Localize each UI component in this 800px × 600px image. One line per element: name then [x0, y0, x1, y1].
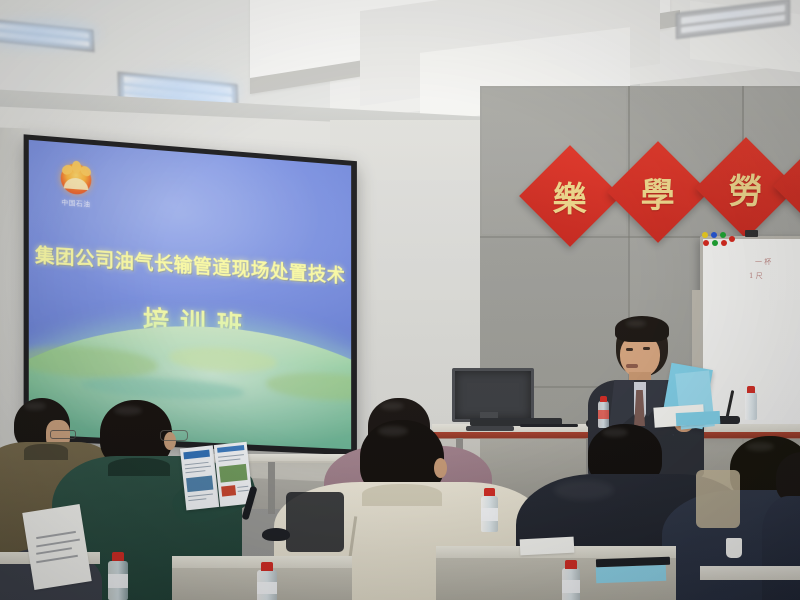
handout-papers[interactable] — [520, 537, 575, 556]
handout-papers[interactable] — [22, 504, 91, 590]
suit-shoulder-highlight — [554, 480, 614, 500]
presenter-eye — [643, 347, 650, 350]
whiteboard-magnets[interactable] — [702, 232, 738, 248]
attendee-collar — [108, 458, 170, 476]
chair-back — [286, 492, 344, 552]
whiteboard-note-line: 一 杯 — [755, 257, 771, 267]
eyeglasses-icon — [160, 430, 188, 441]
petrochina-logo: 中国石油 — [56, 162, 97, 209]
banner-xue: 學 — [622, 156, 694, 228]
attendee-torso — [762, 496, 800, 600]
photo-scene: 中国石油 集团公司油气长输管道现场处置技术 培训班 樂 學 勞 一 杯 1 尺 — [0, 0, 800, 600]
banner-character: 勞 — [729, 164, 763, 213]
attendee-collar — [24, 444, 68, 460]
water-bottle[interactable] — [562, 560, 580, 600]
paper-cup[interactable] — [726, 538, 742, 558]
banner-character: 樂 — [553, 172, 587, 221]
logo-sun-icon — [61, 163, 92, 196]
water-bottle[interactable] — [481, 488, 498, 532]
handout-papers-blue[interactable] — [596, 565, 667, 583]
attendee-collar — [362, 484, 442, 506]
banner-partial-right — [788, 150, 800, 222]
chair-back — [696, 470, 740, 528]
presenter-mouth — [626, 364, 638, 368]
water-bottle[interactable] — [108, 552, 128, 600]
banner-character: 學 — [641, 168, 675, 217]
attendee-ear — [434, 458, 447, 478]
desk-leg — [268, 462, 275, 514]
presenter-eye — [626, 348, 633, 351]
banner-lao: 勞 — [710, 152, 782, 224]
banner-le: 樂 — [534, 160, 606, 232]
whiteboard-clip[interactable] — [745, 230, 758, 237]
computer-mouse[interactable] — [262, 528, 290, 541]
water-bottle[interactable] — [257, 562, 277, 600]
whiteboard-note-line: 1 尺 — [749, 271, 763, 281]
foreground-desk-far-right-top — [700, 566, 800, 580]
brochure[interactable] — [180, 442, 254, 511]
water-bottle[interactable] — [745, 386, 757, 420]
